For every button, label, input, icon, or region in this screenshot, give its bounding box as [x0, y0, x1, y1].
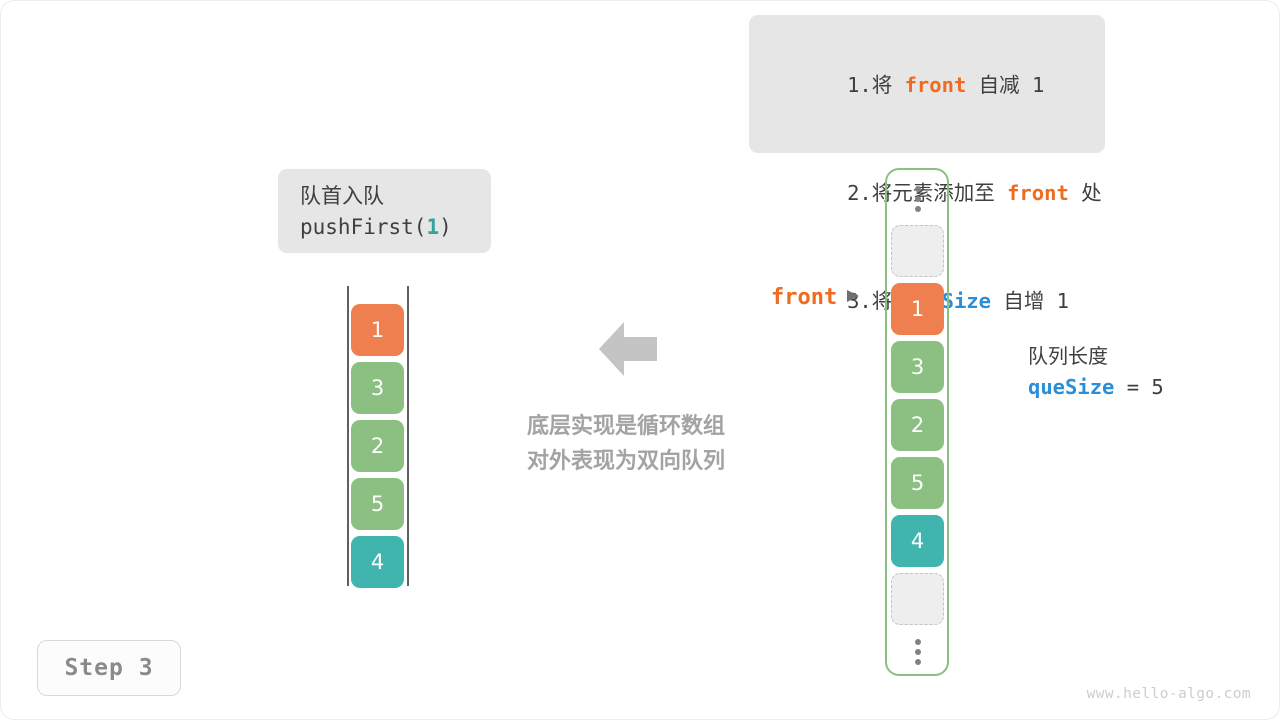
deque-cell-list: 13254: [351, 304, 404, 594]
deque-cell: 3: [351, 362, 404, 414]
step-1-number: 1.: [847, 73, 872, 97]
watermark: www.hello-algo.com: [1087, 686, 1251, 702]
step-1-text-b: 自减 1: [966, 73, 1044, 97]
vertical-ellipsis-bottom-icon: [891, 631, 944, 673]
step-2-token-front: front: [1007, 181, 1069, 205]
circular-array-view: 13254: [885, 168, 949, 676]
operation-label-panel: 队首入队 pushFirst(1): [278, 169, 491, 253]
quesize-note-expression: queSize = 5: [1028, 371, 1164, 403]
circular-array-cell: 3: [891, 341, 944, 393]
operation-signature-suffix: ): [439, 215, 452, 239]
front-pointer-label: front: [771, 285, 837, 310]
circular-array-cell: [891, 573, 944, 625]
operation-signature: pushFirst(1): [300, 211, 491, 243]
steps-panel: 1.将 front 自减 1 2.将元素添加至 front 处 3.将 queS…: [749, 15, 1105, 153]
circular-array-cell-list: 13254: [891, 178, 944, 678]
deque-rail-left: [347, 286, 349, 586]
diagram-canvas: 1.将 front 自减 1 2.将元素添加至 front 处 3.将 queS…: [0, 0, 1280, 720]
step-badge: Step 3: [37, 640, 181, 696]
deque-cell: 2: [351, 420, 404, 472]
step-3-text-b: 自增 1: [991, 289, 1069, 313]
deque-cell: 5: [351, 478, 404, 530]
operation-title: 队首入队: [300, 181, 491, 211]
deque-cell: 1: [351, 304, 404, 356]
quesize-note: 队列长度 queSize = 5: [1028, 341, 1164, 403]
centre-caption: 底层实现是循环数组 对外表现为双向队列: [481, 409, 771, 479]
operation-signature-prefix: pushFirst(: [300, 215, 426, 239]
circular-array-cell: 5: [891, 457, 944, 509]
circular-array-cell: [891, 225, 944, 277]
deque-view: 13254: [347, 286, 409, 586]
triangle-right-icon: [845, 288, 861, 307]
deque-cell: 4: [351, 536, 404, 588]
front-pointer: front: [771, 285, 861, 310]
quesize-variable: queSize: [1028, 375, 1114, 399]
step-1-text-a: 将: [872, 73, 905, 97]
centre-caption-line-2: 对外表现为双向队列: [481, 444, 771, 479]
step-1-token-front: front: [905, 73, 967, 97]
circular-array-cell: 1: [891, 283, 944, 335]
quesize-note-title: 队列长度: [1028, 341, 1164, 371]
centre-caption-line-1: 底层实现是循环数组: [481, 409, 771, 444]
left-arrow-icon: [598, 319, 658, 379]
step-2-text-b: 处: [1069, 181, 1102, 205]
step-2-number: 2.: [847, 181, 872, 205]
circular-array-cell: 4: [891, 515, 944, 567]
quesize-value: = 5: [1114, 375, 1163, 399]
circular-array-cell: 2: [891, 399, 944, 451]
operation-signature-arg: 1: [426, 215, 439, 239]
vertical-ellipsis-top-icon: [891, 178, 944, 220]
deque-rail-right: [407, 286, 409, 586]
step-line-1: 1.将 front 自减 1: [773, 31, 1083, 139]
